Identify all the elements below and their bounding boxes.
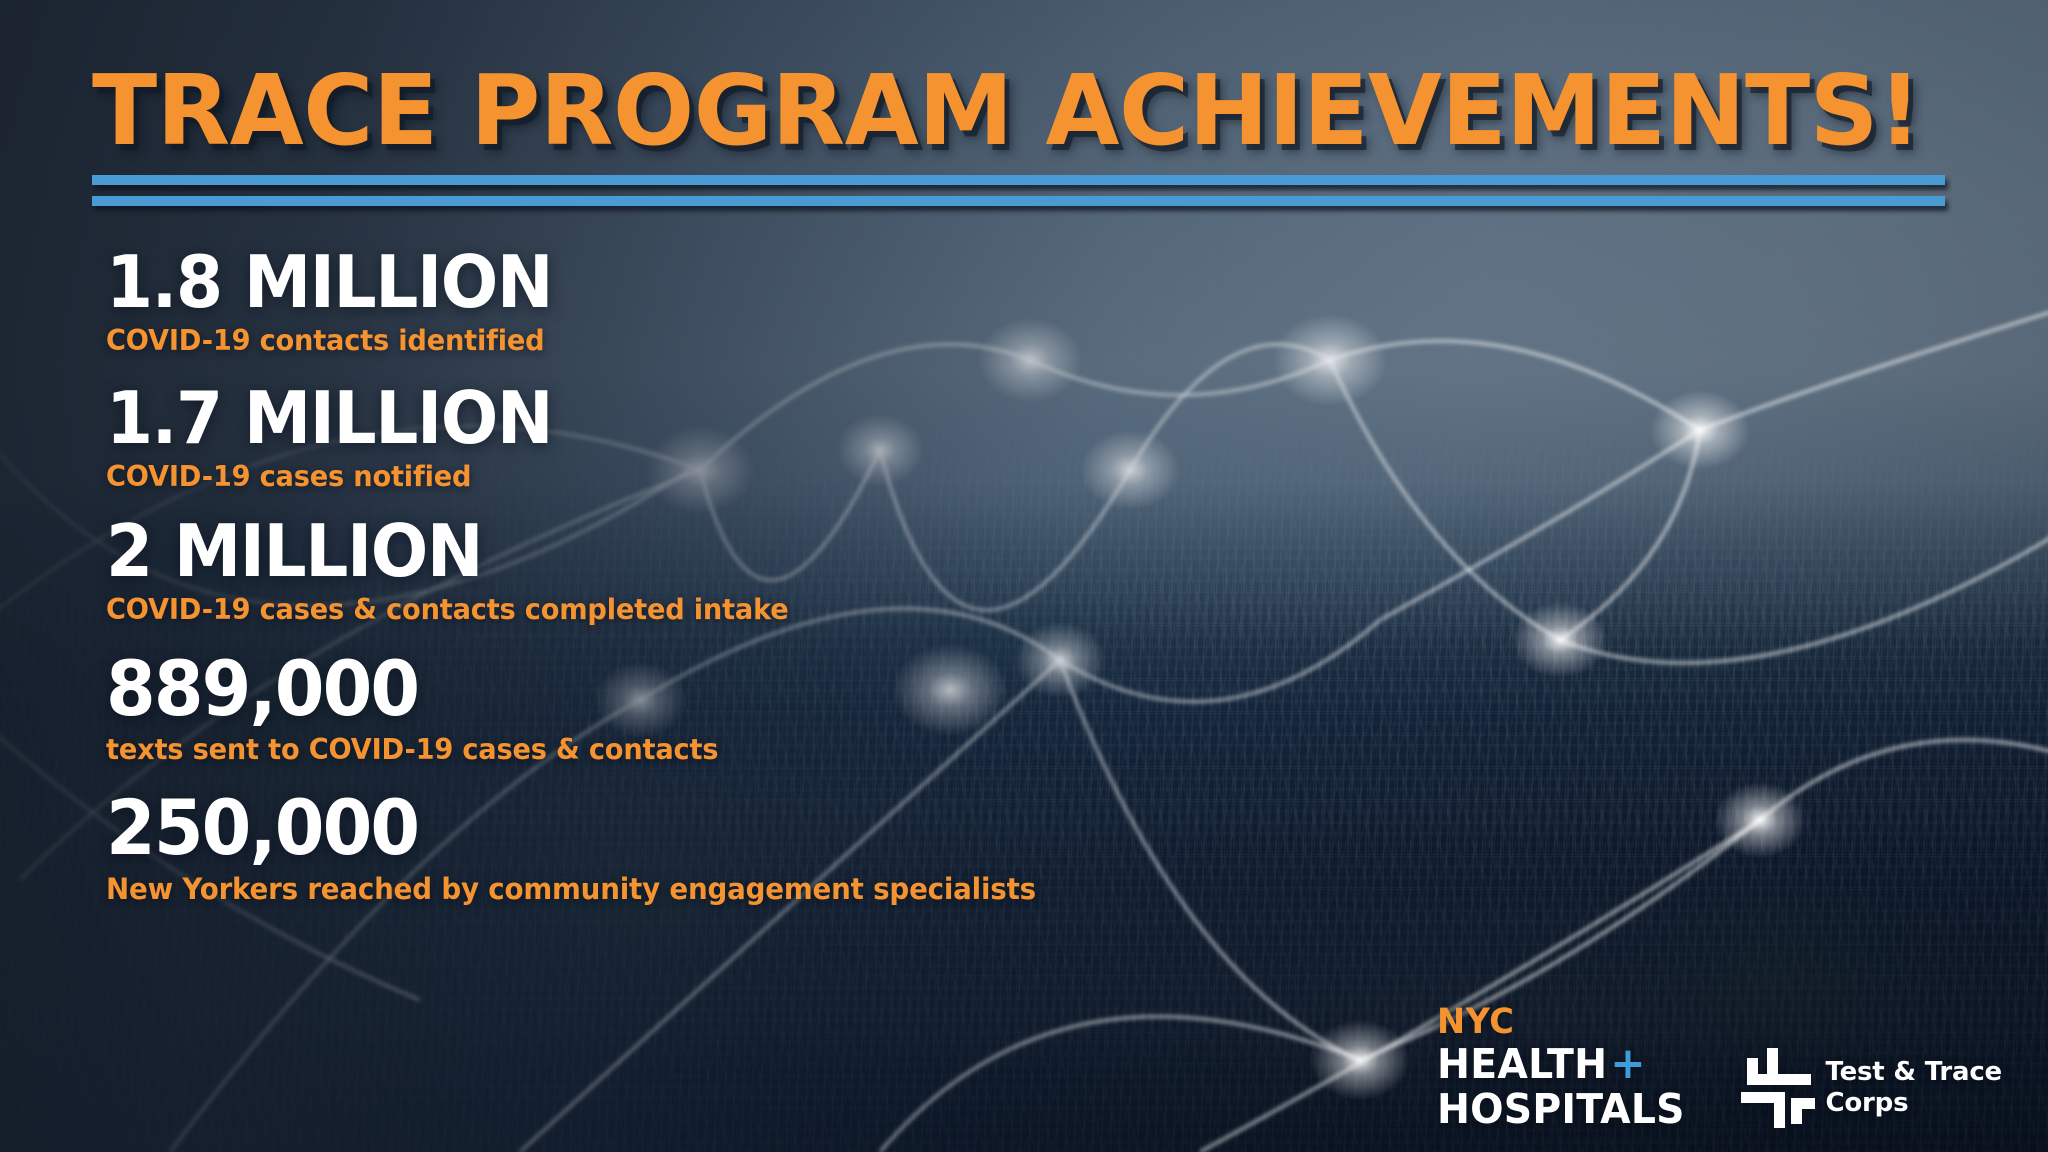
rule-bottom: [92, 196, 1945, 206]
stat-caption: COVID-19 cases & contacts completed inta…: [106, 596, 1036, 625]
stat-value: 2 MILLION: [106, 515, 1021, 587]
stat-item: 2 MILLION COVID-19 cases & contacts comp…: [106, 515, 1080, 625]
infographic-poster: TRACE PROGRAM ACHIEVEMENTS! 1.8 MILLION …: [0, 0, 2048, 1152]
stat-item: 250,000 New Yorkers reached by community…: [106, 790, 1080, 904]
statistics-list: 1.8 MILLION COVID-19 contacts identified…: [106, 246, 1080, 926]
title-underline-rules: [92, 175, 1945, 206]
stat-caption: texts sent to COVID-19 cases & contacts: [106, 736, 1036, 765]
poster-header: TRACE PROGRAM ACHIEVEMENTS!: [92, 62, 1982, 206]
stat-value: 889,000: [106, 651, 1021, 727]
logo-group: NYC HEALTH + HOSPITALS: [1437, 1005, 2002, 1130]
logo-health-text: HEALTH: [1437, 1044, 1607, 1085]
rule-top: [92, 175, 1945, 185]
logo-health-row: HEALTH +: [1437, 1044, 1685, 1085]
page-title: TRACE PROGRAM ACHIEVEMENTS!: [92, 62, 1954, 159]
logo-nyc-text: NYC: [1437, 1005, 1685, 1040]
ttc-line-2: Corps: [1826, 1088, 2003, 1119]
test-trace-corps-wordmark: Test & Trace Corps: [1826, 1057, 2003, 1118]
ttc-line-1: Test & Trace: [1826, 1057, 2003, 1088]
stat-value: 1.8 MILLION: [106, 246, 1021, 318]
stat-value: 250,000: [106, 790, 1021, 866]
test-trace-corps-mark-icon: [1739, 1046, 1815, 1130]
stat-item: 1.7 MILLION COVID-19 cases notified: [106, 382, 1080, 492]
stat-caption: COVID-19 cases notified: [106, 463, 1036, 492]
plus-icon: +: [1610, 1046, 1646, 1081]
stat-caption: COVID-19 contacts identified: [106, 327, 1036, 356]
test-trace-corps-logo: Test & Trace Corps: [1739, 1046, 2003, 1130]
logo-hospitals-text: HOSPITALS: [1437, 1089, 1685, 1130]
stat-item: 889,000 texts sent to COVID-19 cases & c…: [106, 651, 1080, 765]
stat-value: 1.7 MILLION: [106, 382, 1021, 454]
stat-caption: New Yorkers reached by community engagem…: [106, 875, 1036, 904]
nyc-health-hospitals-logo: NYC HEALTH + HOSPITALS: [1437, 1005, 1695, 1130]
stat-item: 1.8 MILLION COVID-19 contacts identified: [106, 246, 1080, 356]
